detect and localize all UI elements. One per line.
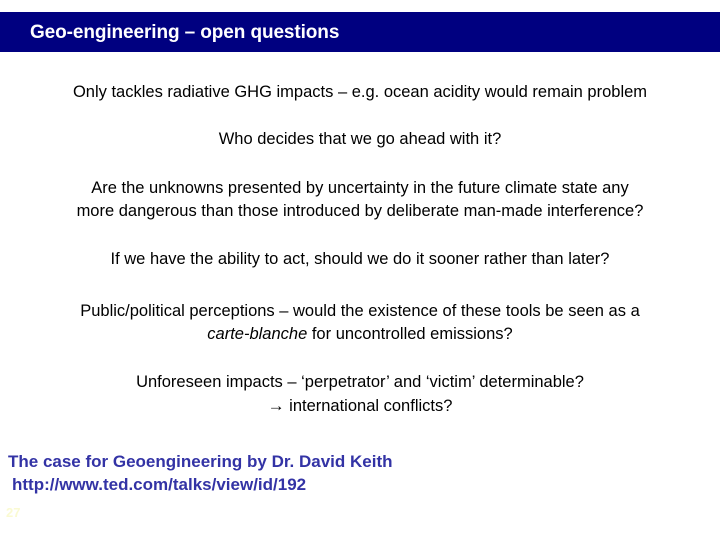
bullet-line: Unforeseen impacts – ‘perpetrator’ and ‘…	[14, 371, 706, 394]
bullet-line: more dangerous than those introduced by …	[14, 200, 706, 223]
title-banner: Geo-engineering – open questions	[0, 12, 720, 52]
bullet-line: If we have the ability to act, should we…	[111, 250, 610, 268]
bullet-who-decides: Who decides that we go ahead with it?	[0, 128, 720, 151]
bullet-radiative-impacts: Only tackles radiative GHG impacts – e.g…	[0, 81, 720, 104]
italic-term-carte-blanche: carte-blanche	[207, 325, 307, 343]
right-arrow-icon: →	[268, 396, 285, 415]
reference-title: The case for Geoengineering by Dr. David…	[8, 450, 392, 473]
bullet-sooner-or-later: If we have the ability to act, should we…	[0, 248, 720, 271]
bullet-unknowns-vs-deliberate: Are the unknowns presented by uncertaint…	[0, 177, 720, 223]
reference-link[interactable]: http://www.ted.com/talks/view/id/192	[12, 473, 392, 496]
bullet-line: Public/political perceptions – would the…	[14, 300, 706, 323]
slide: Geo-engineering – open questions Only ta…	[0, 0, 720, 540]
bullet-line: Only tackles radiative GHG impacts – e.g…	[73, 83, 647, 101]
slide-number: 27	[6, 506, 20, 519]
bullet-line: Are the unknowns presented by uncertaint…	[14, 177, 706, 200]
bullet-line: Who decides that we go ahead with it?	[219, 130, 502, 148]
slide-body: Only tackles radiative GHG impacts – e.g…	[0, 52, 720, 492]
footer-reference-block: The case for Geoengineering by Dr. David…	[8, 450, 392, 496]
bullet-unforeseen-impacts: Unforeseen impacts – ‘perpetrator’ and ‘…	[0, 371, 720, 418]
bullet-line-remainder: international conflicts?	[285, 397, 453, 415]
bullet-line-arrow: → international conflicts?	[14, 394, 706, 418]
bullet-public-perceptions: Public/political perceptions – would the…	[0, 300, 720, 346]
bullet-line-italic-phrase: carte-blanche for uncontrolled emissions…	[14, 323, 706, 346]
page-title: Geo-engineering – open questions	[30, 23, 339, 42]
bullet-line-remainder: for uncontrolled emissions?	[307, 325, 512, 343]
